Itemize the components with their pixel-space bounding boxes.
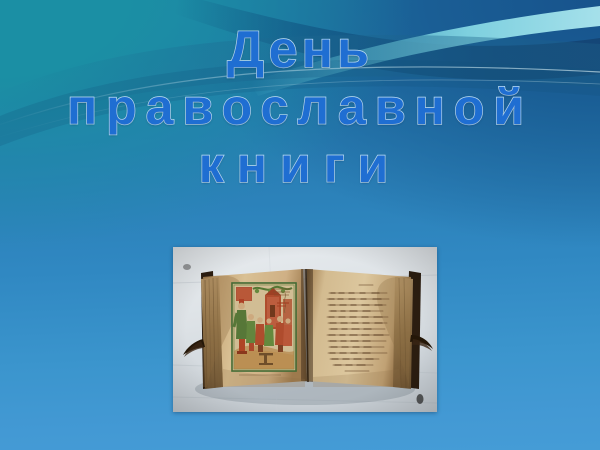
title-line-3: книги [0, 140, 600, 190]
presentation-slide: День православной книги [0, 0, 600, 450]
manuscript-book-image [173, 247, 437, 412]
title-line-1: День [0, 24, 600, 76]
slide-title: День православной книги [0, 24, 600, 190]
title-line-2: православной [0, 82, 600, 132]
